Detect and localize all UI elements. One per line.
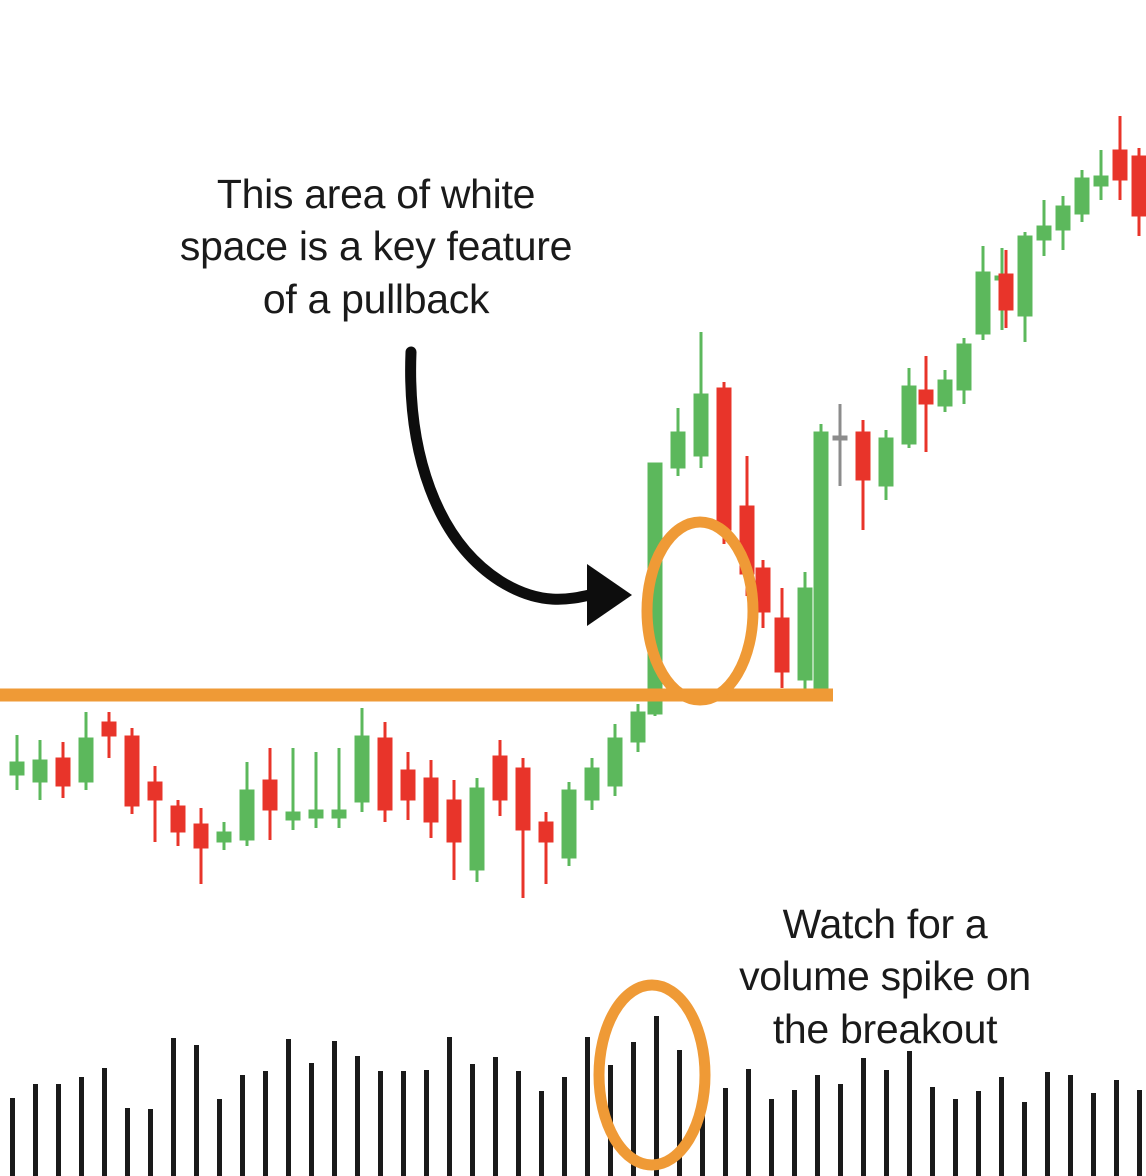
volume-bar — [999, 1077, 1004, 1176]
candle — [217, 822, 231, 850]
candle — [79, 712, 93, 790]
candle-body — [814, 432, 828, 688]
candle — [976, 246, 990, 340]
candle-body — [798, 588, 812, 680]
volume-bar — [792, 1090, 797, 1176]
candle — [798, 572, 812, 692]
volume-bar — [585, 1037, 590, 1176]
volume-bar — [861, 1058, 866, 1176]
candle-body — [919, 390, 933, 404]
candle — [1018, 232, 1032, 342]
volume-bar — [447, 1037, 452, 1176]
candle — [856, 420, 870, 530]
volume-bar — [769, 1099, 774, 1176]
candle — [424, 760, 438, 838]
candle — [585, 758, 599, 810]
candle-body — [856, 432, 870, 480]
candle — [240, 762, 254, 846]
volume-bar — [1114, 1080, 1119, 1176]
candle — [1094, 150, 1108, 200]
candle-body — [148, 782, 162, 800]
candle-body — [1094, 176, 1108, 186]
candle — [148, 766, 162, 842]
candle — [539, 812, 553, 884]
volume-bar — [355, 1056, 360, 1176]
candle — [194, 808, 208, 884]
volume-bar — [33, 1084, 38, 1176]
volume-bar — [884, 1070, 889, 1176]
candle — [1056, 196, 1070, 250]
candle-body — [1113, 150, 1127, 180]
volume-bar — [125, 1108, 130, 1176]
candle — [1113, 116, 1127, 200]
volume-bar — [470, 1064, 475, 1176]
volume-bar — [102, 1068, 107, 1176]
candle-body — [608, 738, 622, 786]
volume-bar — [562, 1077, 567, 1176]
candle-body — [493, 756, 507, 800]
candle — [833, 404, 847, 486]
candle-body — [378, 738, 392, 810]
candle-body — [79, 738, 93, 782]
candle-body — [775, 618, 789, 672]
candle-body — [1037, 226, 1051, 240]
candle — [33, 740, 47, 800]
volume-bar — [746, 1069, 751, 1176]
candle-body — [240, 790, 254, 840]
candle — [355, 708, 369, 812]
volume-bar — [1045, 1072, 1050, 1176]
candle-body — [217, 832, 231, 842]
candle-body — [938, 380, 952, 406]
candle-body — [1056, 206, 1070, 230]
candle-body — [102, 722, 116, 736]
candle-body — [1132, 156, 1146, 216]
volume-bar — [79, 1077, 84, 1176]
candle-body — [10, 762, 24, 775]
chart-canvas: This area of white space is a key featur… — [0, 0, 1146, 1176]
candle — [1132, 148, 1146, 236]
candle-body — [562, 790, 576, 858]
candle-body — [401, 770, 415, 800]
candle-body — [671, 432, 685, 468]
candle-body — [694, 394, 708, 456]
volume-bar — [907, 1051, 912, 1176]
candle — [447, 780, 461, 880]
candle-body — [957, 344, 971, 390]
candle — [470, 778, 484, 882]
candle-body — [125, 736, 139, 806]
volume-bar — [148, 1109, 153, 1176]
candle — [309, 752, 323, 828]
candle — [1075, 170, 1089, 222]
candle — [10, 735, 24, 790]
volume-bar — [1137, 1090, 1142, 1176]
volume-bar — [194, 1045, 199, 1176]
volume-bar — [654, 1016, 659, 1176]
candle-body — [631, 712, 645, 742]
candle-body — [717, 388, 731, 530]
volume-bar — [424, 1070, 429, 1176]
volume-bar — [286, 1039, 291, 1176]
candle — [671, 408, 685, 476]
volume-bar — [401, 1071, 406, 1176]
candle-body — [309, 810, 323, 818]
volume-bar — [309, 1063, 314, 1176]
volume-bar — [516, 1071, 521, 1176]
candle — [775, 588, 789, 688]
volume-bar — [332, 1041, 337, 1176]
candle-body — [999, 274, 1013, 310]
candle — [938, 370, 952, 412]
curved-pointer-arrow — [411, 352, 632, 626]
candle-body — [332, 810, 346, 818]
candle-body — [355, 736, 369, 802]
candle-body — [56, 758, 70, 786]
candle-body — [1018, 236, 1032, 316]
candle — [102, 712, 116, 758]
volume-bar — [10, 1098, 15, 1176]
candle — [378, 722, 392, 822]
candle — [493, 740, 507, 816]
volume-bar — [240, 1075, 245, 1176]
candle — [717, 382, 731, 544]
candle — [286, 748, 300, 830]
candle-body — [447, 800, 461, 842]
candle — [631, 704, 645, 752]
candle — [562, 782, 576, 866]
arrow-head — [587, 564, 632, 626]
volume-bar — [723, 1088, 728, 1176]
volume-bar — [217, 1099, 222, 1176]
candle — [957, 338, 971, 404]
pullback-highlight-ellipse — [647, 522, 753, 700]
volume-bar — [815, 1075, 820, 1176]
volume-bar — [953, 1099, 958, 1176]
candle — [902, 368, 916, 448]
candle — [263, 748, 277, 840]
volume-bar — [1068, 1075, 1073, 1176]
candle — [919, 356, 933, 452]
candle — [879, 430, 893, 500]
volume-bar — [378, 1071, 383, 1176]
candle — [332, 748, 346, 828]
volume-bar — [263, 1071, 268, 1176]
annotation-volume-spike-text: Watch for a volume spike on the breakout — [700, 898, 1070, 1055]
candle — [694, 332, 708, 468]
candle-body — [194, 824, 208, 848]
candle-body — [879, 438, 893, 486]
candle — [401, 752, 415, 820]
volume-bar — [539, 1091, 544, 1176]
candle — [1037, 200, 1051, 256]
annotation-pullback-text: This area of white space is a key featur… — [96, 168, 656, 325]
candle-body — [902, 386, 916, 444]
candle — [516, 758, 530, 898]
candle-body — [976, 272, 990, 334]
candle-body — [539, 822, 553, 842]
candle-body — [286, 812, 300, 820]
volume-bar — [976, 1091, 981, 1176]
arrow-shaft — [411, 352, 604, 599]
volume-bar — [1022, 1102, 1027, 1176]
candle — [814, 424, 828, 692]
volume-bar — [1091, 1093, 1096, 1176]
volume-bar — [493, 1057, 498, 1176]
candle-body — [833, 436, 847, 440]
volume-bar — [171, 1038, 176, 1176]
candle-body — [263, 780, 277, 810]
volume-bar — [930, 1087, 935, 1176]
candle-body — [470, 788, 484, 870]
candle — [171, 800, 185, 846]
candle-body — [1075, 178, 1089, 214]
candle-body — [424, 778, 438, 822]
candle-body — [585, 768, 599, 800]
candle-body — [171, 806, 185, 832]
volume-bar — [56, 1084, 61, 1176]
candle-body — [33, 760, 47, 782]
volume-spike-highlight-ellipse — [599, 985, 705, 1165]
candle — [56, 742, 70, 798]
highlight-ellipses — [599, 522, 753, 1165]
candle — [608, 724, 622, 796]
candle — [125, 728, 139, 814]
candle-body — [516, 768, 530, 830]
volume-bar — [838, 1084, 843, 1176]
